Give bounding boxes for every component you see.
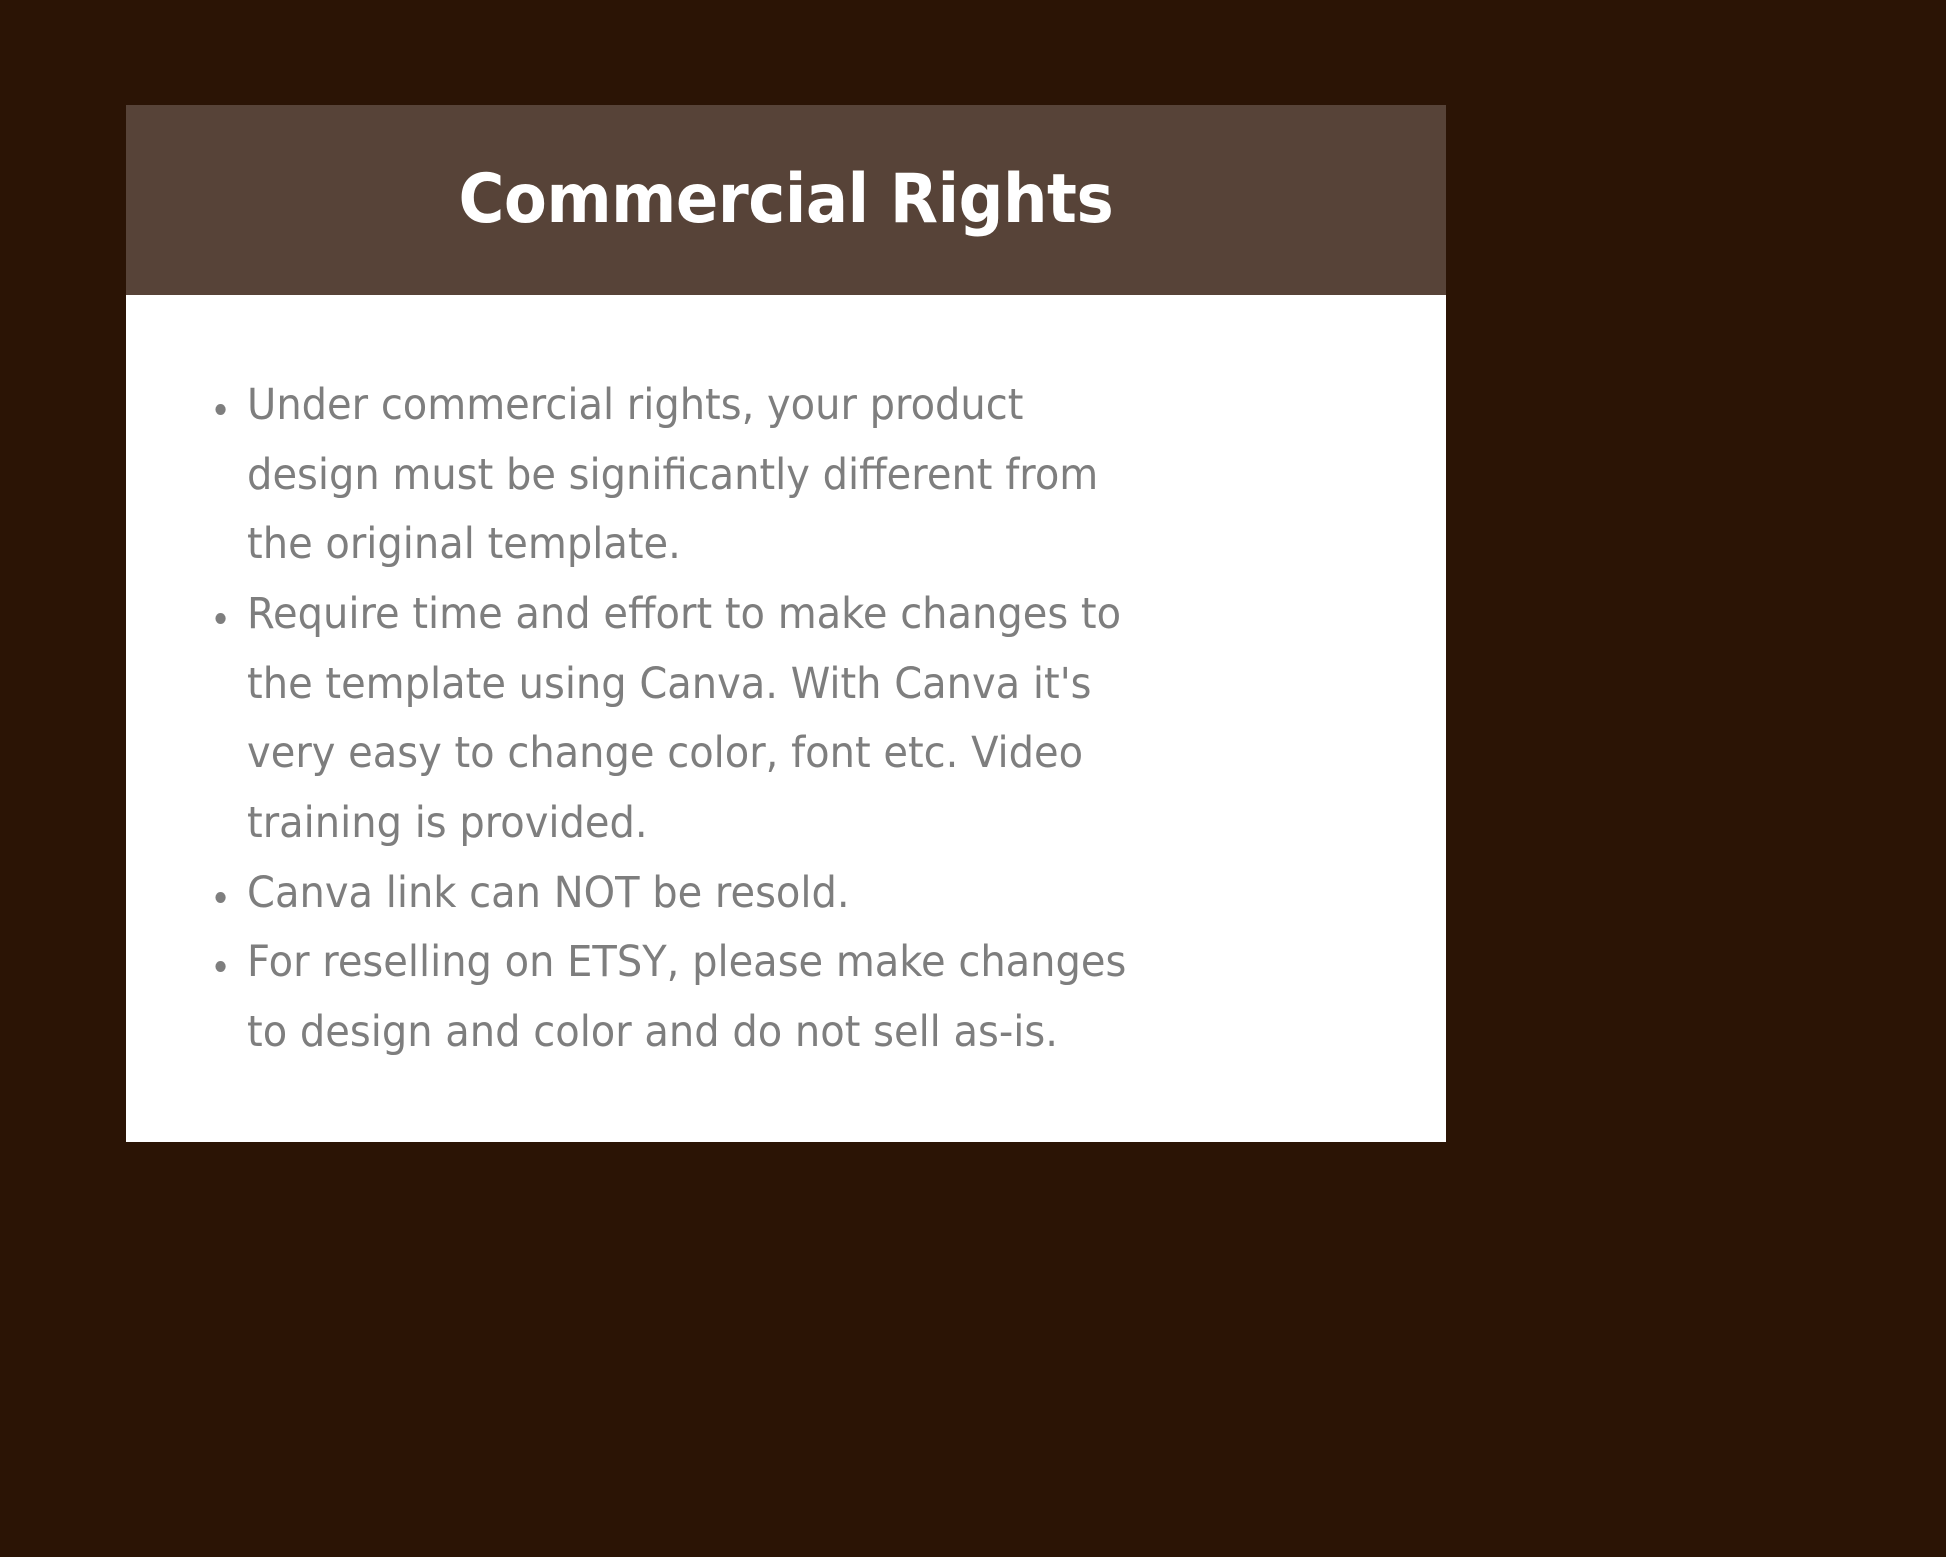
commercial-rights-card: Commercial Rights Under commercial right… (126, 105, 1446, 1142)
list-item: Canva link can NOT be resold. (208, 859, 1140, 929)
list-item: Under commercial rights, your product de… (208, 371, 1140, 580)
page-title: Commercial Rights (459, 166, 1114, 234)
list-item: Require time and effort to make changes … (208, 580, 1140, 859)
list-item-text: Require time and effort to make changes … (247, 580, 1140, 859)
list-item-text: Under commercial rights, your product de… (247, 371, 1140, 580)
card-header-band: Commercial Rights (126, 105, 1446, 295)
list-item-text: Canva link can NOT be resold. (247, 859, 1140, 929)
commercial-rights-bullet-list: Under commercial rights, your product de… (208, 371, 1374, 1068)
list-item-text: For reselling on ETSY, please make chang… (247, 928, 1140, 1067)
list-item: For reselling on ETSY, please make chang… (208, 928, 1140, 1067)
card-body: Under commercial rights, your product de… (126, 295, 1446, 1108)
slide-canvas: Commercial Rights Under commercial right… (0, 0, 1946, 1557)
